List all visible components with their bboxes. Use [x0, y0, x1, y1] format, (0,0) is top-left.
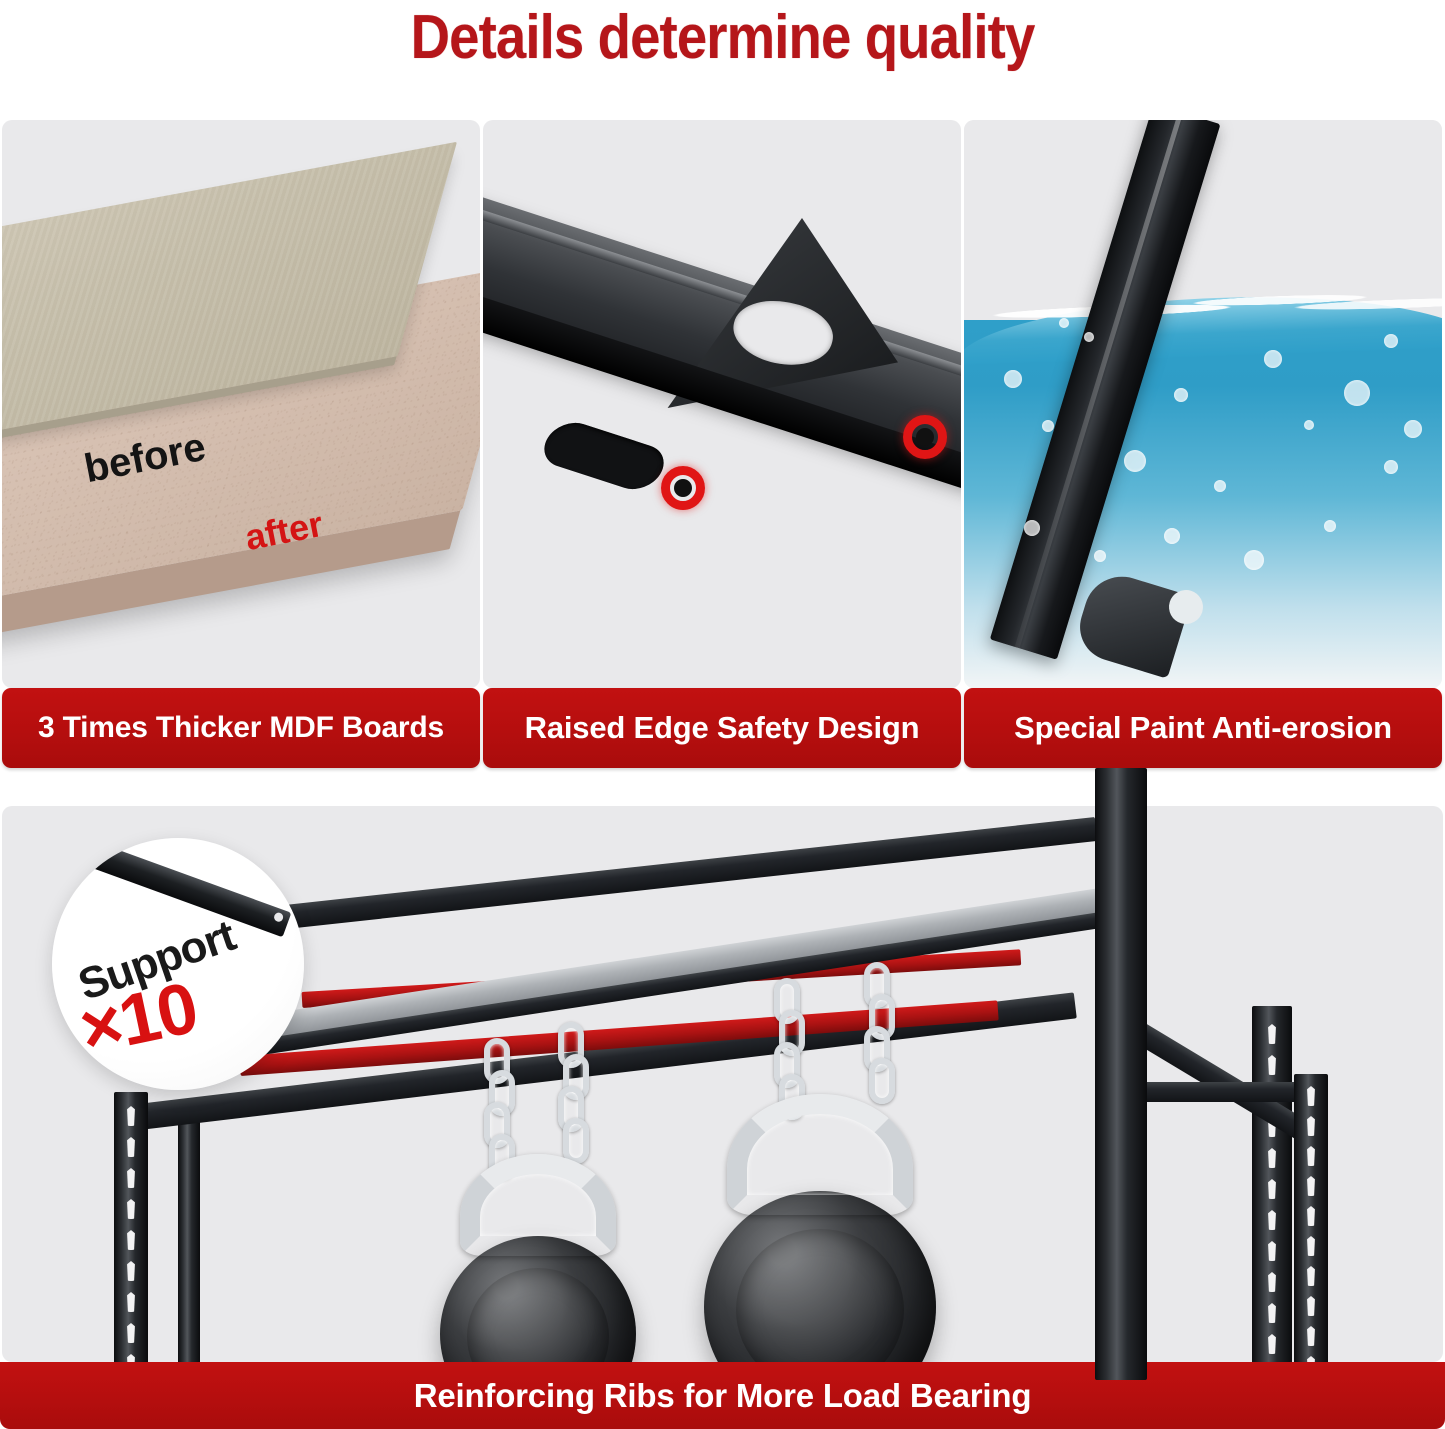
- keyhole-slot: [1265, 1241, 1279, 1261]
- keyhole-slot: [1304, 1326, 1318, 1346]
- keyhole-slot: [124, 1230, 138, 1250]
- infographic-page: Details determine quality before after 3…: [0, 0, 1445, 1429]
- keyhole-slot: [124, 1106, 138, 1126]
- caption-anti-erosion: Special Paint Anti-erosion: [964, 688, 1442, 768]
- support-badge: Support ×10: [52, 838, 304, 1090]
- chain-link: [869, 1058, 895, 1104]
- rack-upright-left-rear: [178, 1106, 200, 1362]
- keyhole-slot: [1304, 1356, 1318, 1362]
- keyhole-slot: [1304, 1266, 1318, 1286]
- keyhole-slot: [124, 1168, 138, 1188]
- keyhole-slot: [1304, 1086, 1318, 1106]
- keyhole-slot: [1304, 1116, 1318, 1136]
- keyhole-slot: [1304, 1236, 1318, 1256]
- bolt-hole-highlight-icon: [661, 466, 705, 510]
- keyhole-slot: [1265, 1272, 1279, 1292]
- bolt-hole-highlight-icon: [903, 415, 947, 459]
- caption-reinforcing-ribs: Reinforcing Ribs for More Load Bearing: [0, 1362, 1445, 1429]
- keyhole-slot: [124, 1261, 138, 1281]
- keyhole-slot: [535, 417, 673, 495]
- bracket-illustration: [483, 120, 961, 688]
- keyhole-slot: [124, 1292, 138, 1312]
- feature-card-raised-edge: Raised Edge Safety Design: [483, 120, 961, 770]
- keyhole-slot: [1304, 1296, 1318, 1316]
- keyhole-slot: [124, 1354, 138, 1362]
- keyhole-slot: [1265, 1303, 1279, 1323]
- keyhole-slot: [1265, 1055, 1279, 1075]
- keyhole-slot: [1265, 1334, 1279, 1354]
- raised-edge-image: [483, 120, 961, 688]
- rack-upright-right-rear: [1252, 1006, 1292, 1362]
- keyhole-slot: [124, 1323, 138, 1343]
- keyhole-slot: [1265, 1210, 1279, 1230]
- keyhole-slot: [124, 1199, 138, 1219]
- rack-upright-rear: [1095, 768, 1147, 1380]
- keyhole-slot: [1304, 1176, 1318, 1196]
- caption-mdf-boards: 3 Times Thicker MDF Boards: [2, 688, 480, 768]
- page-title: Details determine quality: [87, 2, 1359, 73]
- keyhole-slot: [1304, 1206, 1318, 1226]
- keyhole-slot: [1304, 1146, 1318, 1166]
- mdf-boards-image: before after: [2, 120, 480, 688]
- chain-link: [563, 1118, 589, 1164]
- mdf-illustration: before after: [2, 120, 480, 688]
- rack-beam-right: [1122, 1082, 1322, 1102]
- keyhole-slot: [1265, 1148, 1279, 1168]
- keyhole-slot: [1265, 1024, 1279, 1044]
- feature-card-anti-erosion: Special Paint Anti-erosion: [964, 120, 1442, 770]
- feature-card-row: before after 3 Times Thicker MDF Boards: [0, 120, 1445, 770]
- caption-raised-edge: Raised Edge Safety Design: [483, 688, 961, 768]
- keyhole-slot: [124, 1137, 138, 1157]
- feature-card-mdf-boards: before after 3 Times Thicker MDF Boards: [2, 120, 480, 770]
- rack-upright-right-front: [1294, 1074, 1328, 1362]
- anti-erosion-image: [964, 120, 1442, 688]
- keyhole-slot: [1265, 1179, 1279, 1199]
- rack-upright-left-front: [114, 1092, 148, 1362]
- water-illustration: [964, 120, 1442, 688]
